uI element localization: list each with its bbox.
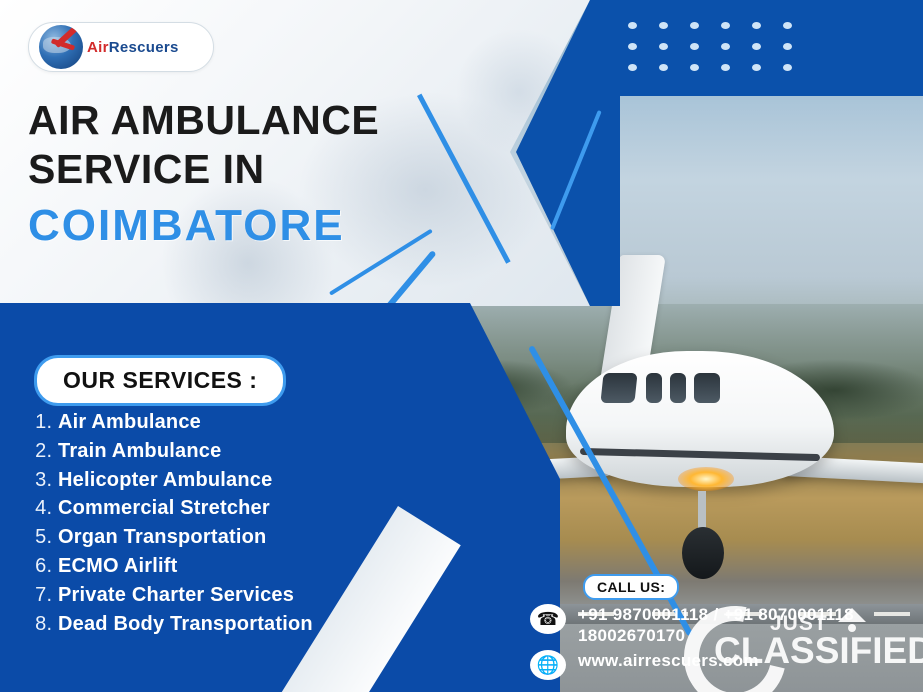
air-ambulance-promo-banner: AirRescuers AIR AMBULANCE SERVICE IN COI…: [0, 0, 923, 692]
globe-icon: 🌐: [530, 650, 566, 680]
brand-logo-text-secondary: Rescuers: [109, 39, 179, 56]
headline-line-2: SERVICE IN: [28, 145, 498, 194]
services-heading: OUR SERVICES :: [34, 355, 286, 406]
jet-cabin-window: [670, 373, 686, 403]
brand-logo-text-primary: Air: [87, 39, 109, 56]
phone-number-line-2: 18002670170: [578, 625, 854, 646]
list-item: ECMO Airlift: [58, 552, 498, 581]
headline-line-1: AIR AMBULANCE: [28, 96, 498, 145]
jet-cabin-window: [646, 373, 662, 403]
services-list: Air Ambulance Train Ambulance Helicopter…: [24, 408, 498, 638]
phone-number-line-1: +91 9870001118 / +91 8070001118: [578, 604, 854, 625]
list-item: Commercial Stretcher: [58, 494, 498, 523]
phone-icon: ☎: [530, 604, 566, 634]
list-item: Organ Transportation: [58, 523, 498, 552]
phone-numbers: +91 9870001118 / +91 8070001118 18002670…: [578, 604, 854, 646]
brand-logo[interactable]: AirRescuers: [28, 22, 214, 72]
list-item: Train Ambulance: [58, 437, 498, 466]
headline-block: AIR AMBULANCE SERVICE IN COIMBATORE: [28, 96, 498, 252]
jet-landing-light: [678, 467, 734, 491]
website-url: www.airrescuers.com: [578, 650, 759, 671]
jet-cabin-window: [694, 373, 720, 403]
list-item: Dead Body Transportation: [58, 610, 498, 639]
jet-nose-wheel: [682, 527, 724, 579]
brand-logo-text: AirRescuers: [87, 39, 179, 56]
phone-contact-row[interactable]: ☎ +91 9870001118 / +91 8070001118 180026…: [530, 604, 854, 646]
website-contact-row[interactable]: 🌐 www.airrescuers.com: [530, 650, 759, 680]
call-us-label: CALL US:: [583, 574, 679, 600]
headline-city: COIMBATORE: [28, 200, 498, 252]
globe-aircraft-logo-icon: [39, 25, 83, 69]
list-item: Air Ambulance: [58, 408, 498, 437]
decorative-dot-grid: [628, 22, 814, 85]
jet-cockpit-window: [600, 373, 637, 403]
list-item: Private Charter Services: [58, 581, 498, 610]
list-item: Helicopter Ambulance: [58, 466, 498, 495]
